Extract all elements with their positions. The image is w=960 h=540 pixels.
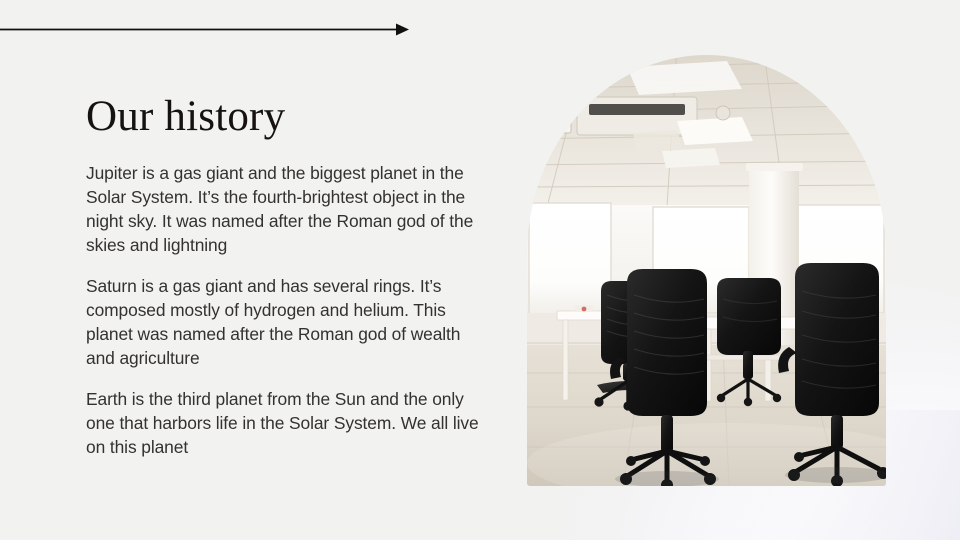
office-meeting-room-photo bbox=[527, 55, 886, 486]
body-paragraph-3: Earth is the third planet from the Sun a… bbox=[86, 387, 484, 459]
body-paragraph-1: Jupiter is a gas giant and the biggest p… bbox=[86, 161, 484, 257]
right-arrow-icon bbox=[0, 18, 420, 42]
text-column: Our history Jupiter is a gas giant and t… bbox=[86, 94, 486, 459]
body-paragraph-2: Saturn is a gas giant and has several ri… bbox=[86, 274, 484, 370]
slide-canvas: Our history Jupiter is a gas giant and t… bbox=[0, 0, 960, 540]
page-title: Our history bbox=[86, 94, 486, 139]
